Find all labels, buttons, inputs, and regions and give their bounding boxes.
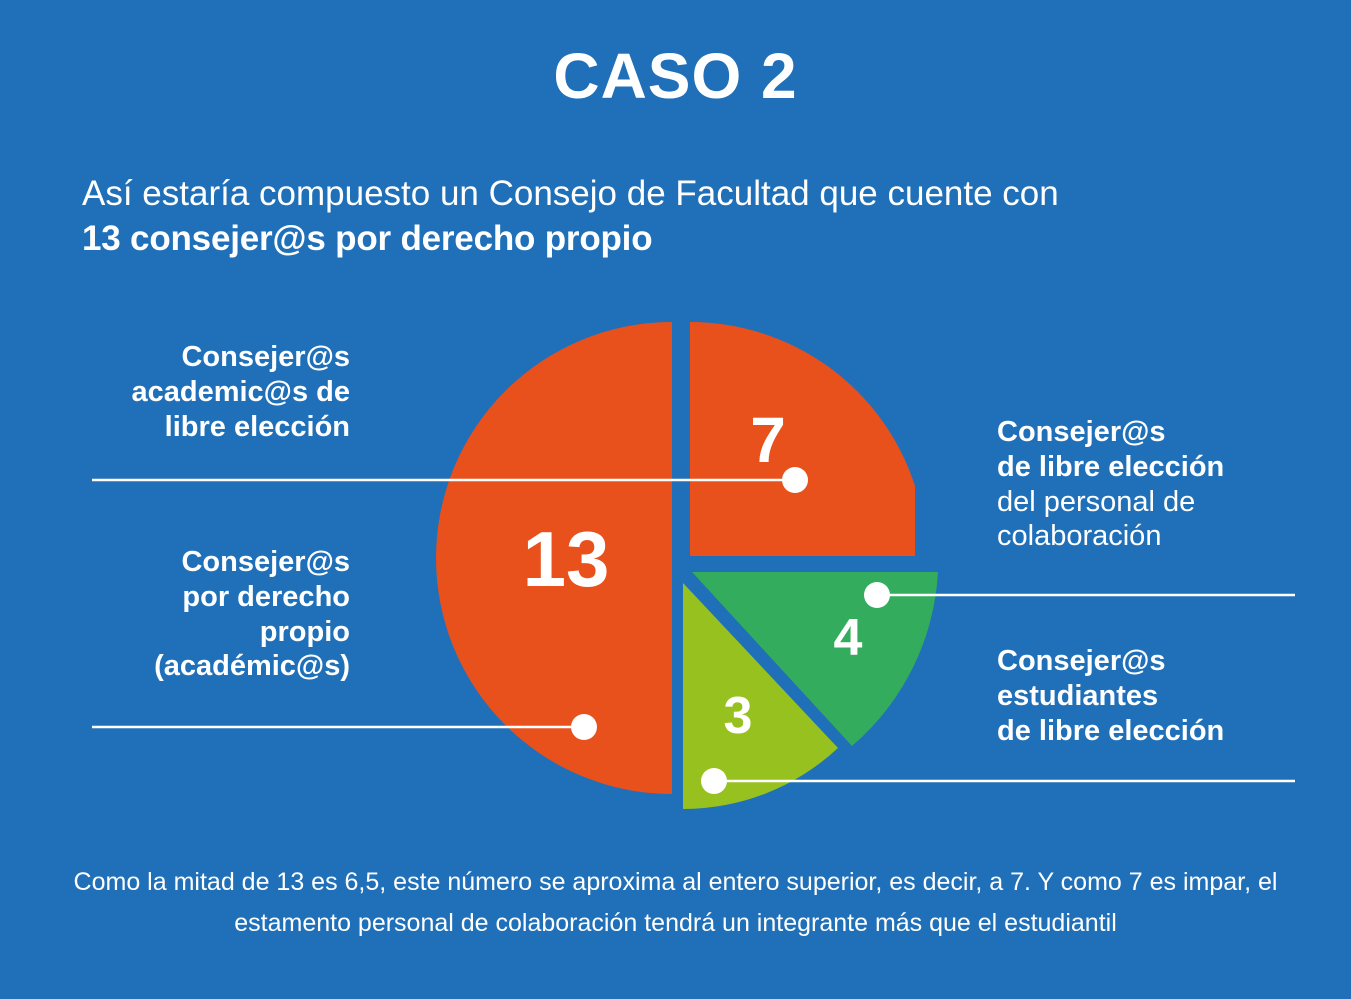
callout-personal-colaboracion: Consejer@s de libre elección del persona… xyxy=(997,415,1327,554)
callout-derecho-propio-line-2: por derecho xyxy=(60,580,350,615)
callout-personal-colaboracion-line-1: Consejer@s xyxy=(997,415,1327,450)
callout-academic-libre-line-3: libre elección xyxy=(60,410,350,445)
leader-dot-personal-colaboracion xyxy=(864,582,890,608)
callout-estudiantes-line-2: estudiantes xyxy=(997,679,1327,714)
infographic-canvas: CASO 2 Así estaría compuesto un Consejo … xyxy=(0,0,1351,999)
pie-value-derecho-propio: 13 xyxy=(523,515,610,603)
leader-dot-academic-libre xyxy=(782,467,808,493)
footer-note: Como la mitad de 13 es 6,5, este número … xyxy=(60,862,1291,945)
callout-personal-colaboracion-line-3: del personal de xyxy=(997,485,1327,520)
callout-derecho-propio-line-4: (académic@s) xyxy=(60,649,350,684)
callout-personal-colaboracion-line-2: de libre elección xyxy=(997,450,1327,485)
pie-value-estudiantes: 3 xyxy=(724,687,753,745)
callout-estudiantes-line-3: de libre elección xyxy=(997,714,1327,749)
callout-academic-libre-line-2: academic@s de xyxy=(60,375,350,410)
callout-derecho-propio-line-1: Consejer@s xyxy=(60,545,350,580)
callout-academic-libre-line-1: Consejer@s xyxy=(60,340,350,375)
callout-academic-libre: Consejer@s academic@s de libre elección xyxy=(60,340,350,444)
callout-derecho-propio-line-3: propio xyxy=(60,615,350,650)
callout-estudiantes-line-1: Consejer@s xyxy=(997,644,1327,679)
leader-dot-estudiantes xyxy=(701,768,727,794)
pie-slice-academic-libre[interactable] xyxy=(690,322,915,556)
pie-value-personal-colaboracion: 4 xyxy=(834,609,863,667)
leader-dot-derecho-propio xyxy=(571,714,597,740)
callout-personal-colaboracion-line-4: colaboración xyxy=(997,519,1327,554)
pie-value-academic-libre: 7 xyxy=(750,404,786,476)
callout-estudiantes: Consejer@s estudiantes de libre elección xyxy=(997,644,1327,748)
callout-derecho-propio: Consejer@s por derecho propio (académic@… xyxy=(60,545,350,684)
